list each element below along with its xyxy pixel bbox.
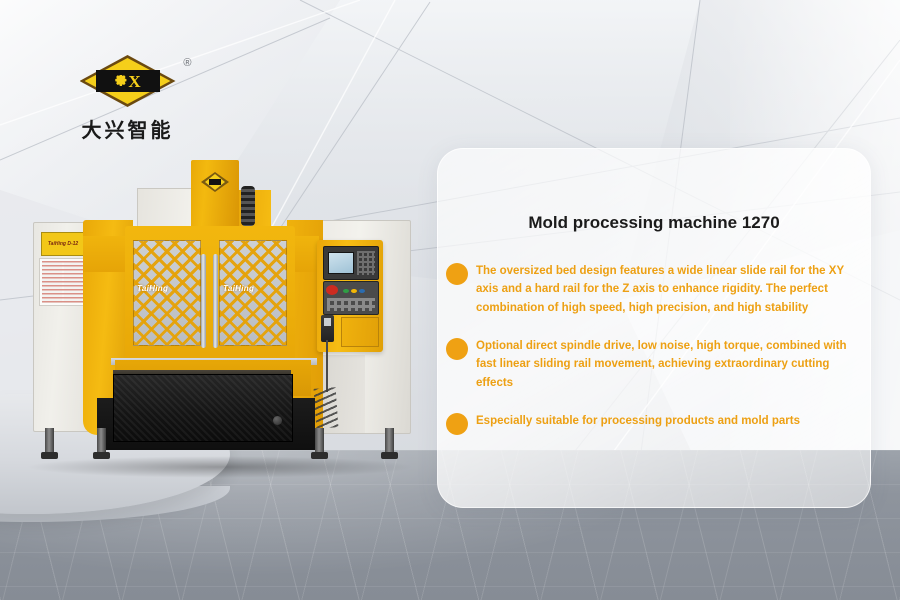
diamond-band: X bbox=[96, 70, 160, 92]
panel-access-door bbox=[341, 317, 379, 347]
company-name-cn: 大兴智能 bbox=[70, 114, 185, 143]
warning-label-yellow: TaiHing D-12 bbox=[41, 232, 85, 256]
pendant-coiled-cable bbox=[314, 387, 339, 428]
door-mesh-right bbox=[219, 240, 287, 346]
tray-knob bbox=[273, 416, 282, 425]
door-brand-right: TaiHing bbox=[223, 284, 254, 293]
pendant-cord bbox=[326, 340, 328, 392]
door-mesh-left bbox=[133, 240, 201, 346]
badge-band bbox=[209, 179, 221, 185]
feature-text: Optional direct spindle drive, low noise… bbox=[476, 340, 847, 389]
foot-pad bbox=[381, 452, 398, 459]
feature-list: The oversized bed design features a wide… bbox=[438, 261, 870, 455]
page-title: Mold processing machine 1270 bbox=[438, 213, 870, 233]
logo-monogram: X bbox=[128, 73, 140, 90]
handheld-pendant bbox=[321, 315, 334, 342]
door-handle-left bbox=[201, 254, 206, 348]
product-info-card: Mold processing machine 1270 The oversiz… bbox=[437, 148, 871, 508]
bullet-dot-icon bbox=[446, 338, 468, 360]
bullet-dot-icon bbox=[446, 413, 468, 435]
cnc-display-icon bbox=[328, 252, 354, 274]
foot-pad bbox=[311, 452, 328, 459]
leveling-foot bbox=[97, 428, 106, 454]
cnc-machine-photo: TaiHing D-12 TaiHing TaiHing bbox=[15, 160, 425, 480]
product-banner: X ® 大兴智能 TaiHing D-12 TaiHing bbox=[0, 0, 900, 600]
door-left: TaiHing bbox=[125, 226, 209, 366]
list-item: The oversized bed design features a wide… bbox=[438, 261, 870, 316]
gear-icon bbox=[114, 75, 127, 88]
bullet-dot-icon bbox=[446, 263, 468, 285]
feature-text: The oversized bed design features a wide… bbox=[476, 265, 844, 314]
foot-pad bbox=[41, 452, 58, 459]
instruction-label bbox=[39, 258, 87, 306]
registered-mark: ® bbox=[183, 57, 191, 69]
machine-doors: TaiHing TaiHing bbox=[125, 226, 295, 366]
company-logo: X ® 大兴智能 bbox=[70, 55, 185, 143]
machine-column bbox=[191, 160, 239, 236]
cnc-screen bbox=[323, 246, 379, 280]
feature-text: Especially suitable for processing produ… bbox=[476, 415, 800, 427]
dx-diamond-logo-icon: X ® bbox=[80, 55, 176, 107]
leveling-foot bbox=[385, 428, 394, 454]
cnc-button-board bbox=[323, 281, 379, 315]
machine-shadow bbox=[25, 456, 415, 478]
door-brand-left: TaiHing bbox=[137, 284, 168, 293]
door-right: TaiHing bbox=[211, 226, 295, 366]
door-handle-right bbox=[213, 254, 218, 348]
list-item: Optional direct spindle drive, low noise… bbox=[438, 336, 870, 391]
foot-pad bbox=[93, 452, 110, 459]
leveling-foot bbox=[315, 428, 324, 454]
list-item: Especially suitable for processing produ… bbox=[438, 411, 870, 435]
chip-conveyor-tray bbox=[113, 374, 293, 442]
cnc-keypad bbox=[357, 251, 375, 275]
tool-changer bbox=[241, 186, 255, 226]
leveling-foot bbox=[45, 428, 54, 454]
